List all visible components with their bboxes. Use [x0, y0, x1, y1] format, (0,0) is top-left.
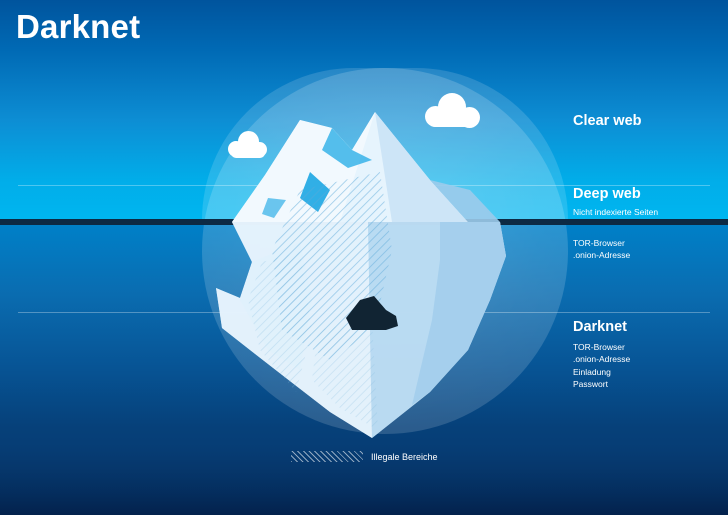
deep-req-line-1: TOR-Browser	[573, 237, 723, 249]
darknet-heading: Darknet	[573, 320, 723, 336]
legend-label: Illegale Bereiche	[371, 452, 438, 462]
label-clear-web: Clear web	[573, 114, 723, 130]
label-darknet: Darknet TOR-Browser .onion-Adresse Einla…	[573, 320, 723, 390]
label-deep-web: Deep web Nicht indexierte Seiten	[573, 187, 723, 218]
page-title: Darknet	[16, 8, 140, 46]
deep-web-subtitle: Nicht indexierte Seiten	[573, 206, 723, 218]
legend-hatch-swatch	[291, 451, 363, 462]
darknet-item: Einladung	[573, 366, 723, 378]
darknet-item: Passwort	[573, 378, 723, 390]
infographic-canvas: Darknet Clear web Deep web Nicht indexie…	[0, 0, 728, 515]
label-deep-web-requirements: TOR-Browser .onion-Adresse	[573, 237, 723, 262]
clear-web-heading: Clear web	[573, 114, 723, 130]
legend: Illegale Bereiche	[291, 451, 438, 462]
darknet-item: TOR-Browser	[573, 341, 723, 353]
deep-req-line-2: .onion-Adresse	[573, 249, 723, 261]
deep-web-heading: Deep web	[573, 187, 723, 203]
darknet-item: .onion-Adresse	[573, 353, 723, 365]
